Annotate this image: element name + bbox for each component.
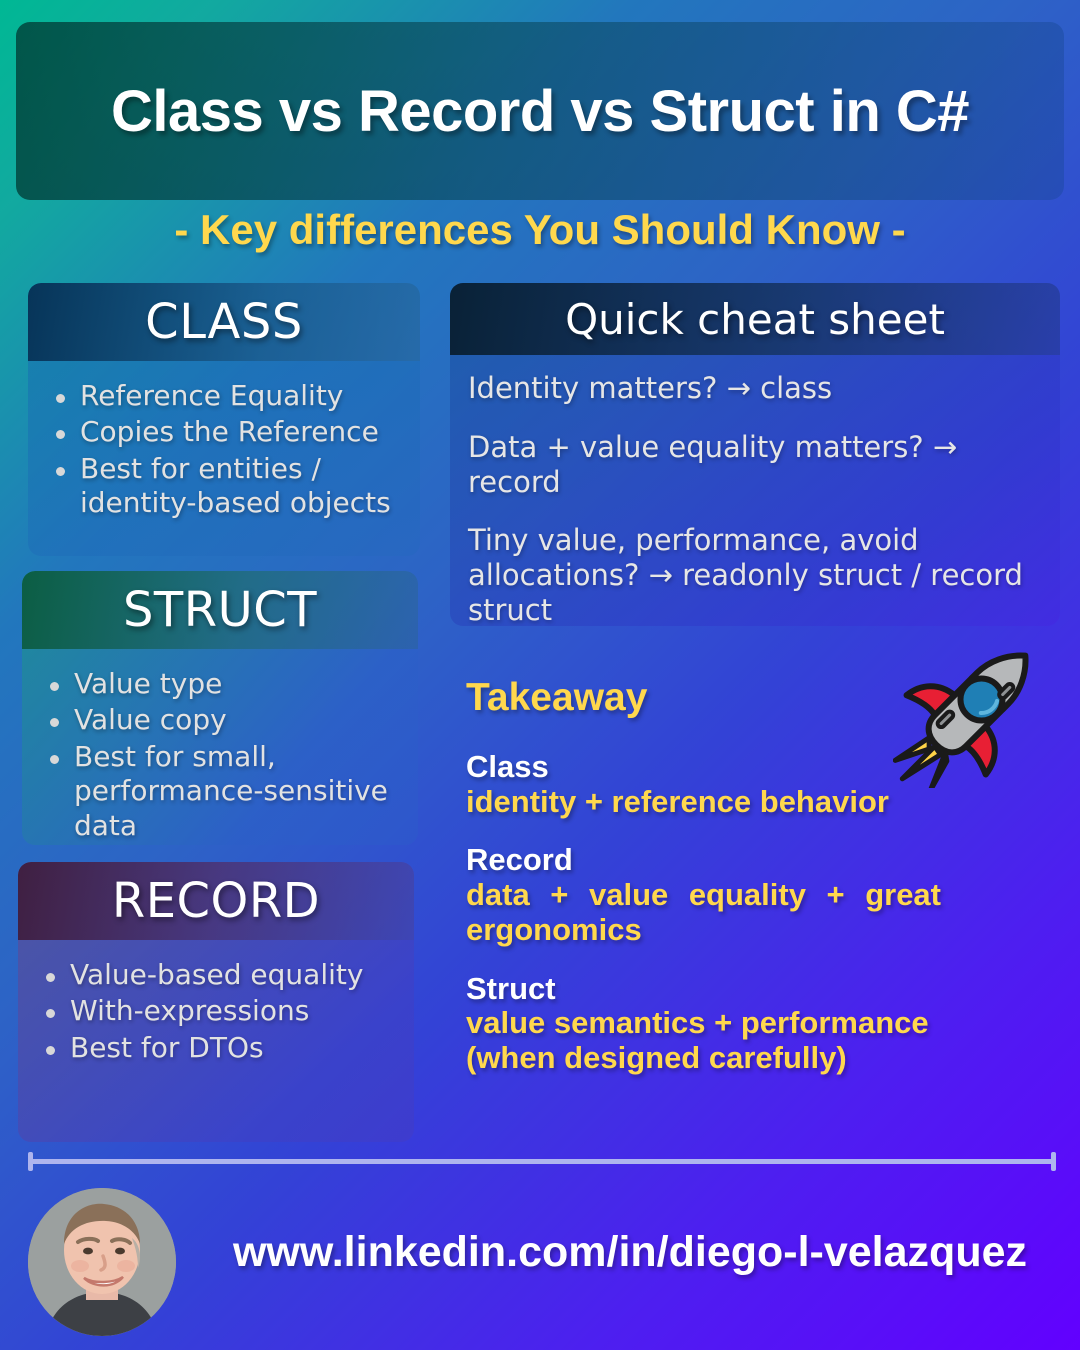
card-class-header: CLASS (28, 283, 420, 361)
takeaway-item-class: Class identity + reference behavior (466, 750, 966, 819)
card-struct-header: STRUCT (22, 571, 418, 649)
list-item: Copies the Reference (42, 415, 406, 449)
cheat-sheet-header: Quick cheat sheet (450, 283, 1060, 355)
takeaway-item-record: Record data + value equality + great erg… (466, 843, 966, 947)
list-item: Reference Equality (42, 379, 406, 413)
cheat-sheet-line: Tiny value, performance, avoid allocatio… (468, 523, 1042, 626)
list-item: Value-based equality (32, 958, 400, 992)
card-class-body: Reference Equality Copies the Reference … (28, 361, 420, 533)
divider-bar (28, 1159, 1056, 1164)
card-record-bullet-list: Value-based equality With-expressions Be… (32, 958, 400, 1065)
takeaway-value: data + value equality + great ergonomics (466, 878, 941, 947)
list-item: Best for DTOs (32, 1031, 400, 1065)
title-banner: Class vs Record vs Struct in C# (16, 22, 1064, 200)
takeaway-section: Takeaway Class identity + reference beha… (466, 676, 966, 1100)
takeaway-label: Struct (466, 972, 966, 1007)
avatar (28, 1188, 176, 1336)
list-item: With-expressions (32, 994, 400, 1028)
card-class-title: CLASS (145, 294, 303, 350)
list-item: Best for small, performance-sensitive da… (36, 740, 404, 843)
takeaway-label: Record (466, 843, 966, 878)
page-title: Class vs Record vs Struct in C# (111, 78, 969, 145)
section-divider (28, 1152, 1056, 1170)
card-class: CLASS Reference Equality Copies the Refe… (28, 283, 420, 556)
cheat-sheet-title: Quick cheat sheet (565, 295, 945, 344)
card-struct-bullet-list: Value type Value copy Best for small, pe… (36, 667, 404, 843)
rocket-icon (893, 628, 1053, 788)
cheat-sheet-list: Identity matters? → class Data + value e… (450, 355, 1060, 626)
takeaway-value: value semantics + performance (when desi… (466, 1006, 941, 1075)
card-class-bullet-list: Reference Equality Copies the Reference … (42, 379, 406, 521)
card-record-body: Value-based equality With-expressions Be… (18, 940, 414, 1077)
card-struct-body: Value type Value copy Best for small, pe… (22, 649, 418, 845)
list-item: Value type (36, 667, 404, 701)
list-item: Best for entities / identity-based objec… (42, 452, 406, 521)
cheat-sheet-panel: Quick cheat sheet Identity matters? → cl… (450, 283, 1060, 626)
card-record-title: RECORD (112, 873, 320, 929)
card-record: RECORD Value-based equality With-express… (18, 862, 414, 1142)
card-struct: STRUCT Value type Value copy Best for sm… (22, 571, 418, 845)
cheat-sheet-line: Identity matters? → class (468, 371, 1042, 406)
page-subtitle: - Key differences You Should Know - (0, 206, 1080, 254)
takeaway-label: Class (466, 750, 966, 785)
profile-url[interactable]: www.linkedin.com/in/diego-l-velazquez (210, 1228, 1050, 1277)
card-record-header: RECORD (18, 862, 414, 940)
divider-cap-left (28, 1152, 33, 1171)
list-item: Value copy (36, 703, 404, 737)
card-struct-title: STRUCT (123, 582, 317, 638)
divider-cap-right (1051, 1152, 1056, 1171)
takeaway-title: Takeaway (466, 676, 966, 720)
cheat-sheet-line: Data + value equality matters? → record (468, 430, 1042, 500)
takeaway-item-struct: Struct value semantics + performance (wh… (466, 972, 966, 1076)
takeaway-value: identity + reference behavior (466, 785, 941, 820)
